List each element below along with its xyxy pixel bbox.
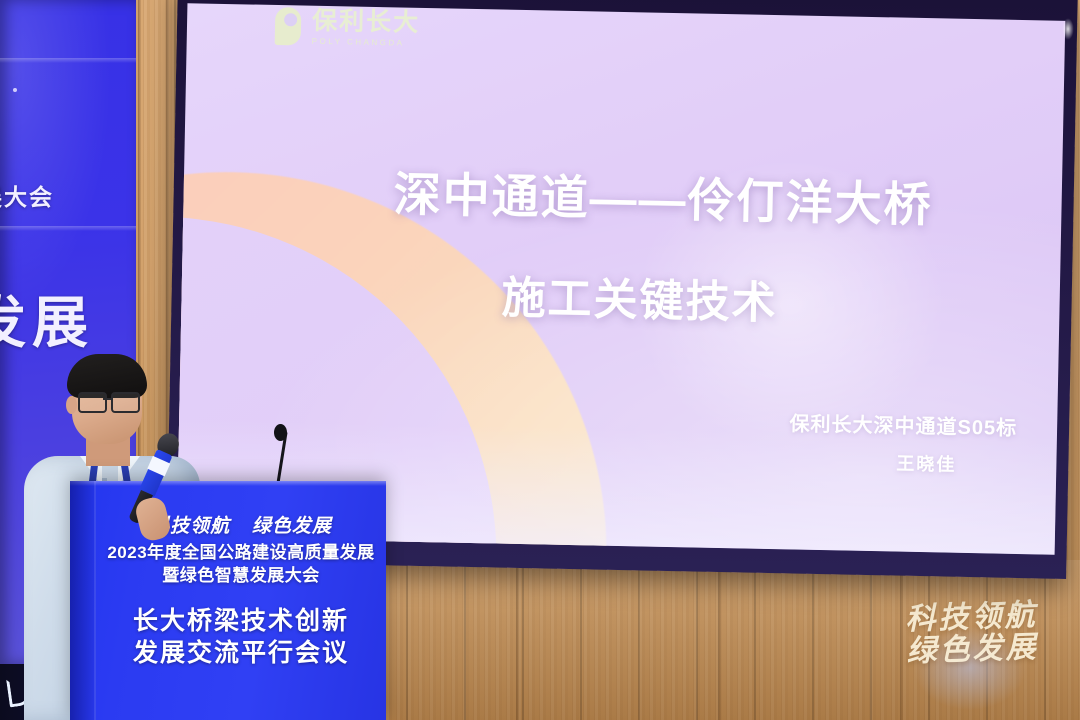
- backdrop-text-large: 发展: [0, 278, 94, 359]
- lens-right: [111, 392, 140, 413]
- podium-conference-line2: 暨绿色智慧发展大会: [96, 561, 386, 586]
- wall-calligraphy: 科技领航 绿色发展: [871, 599, 1073, 671]
- podium-calligraphy-right: 绿色发展: [252, 515, 332, 537]
- podium: 科技领航 绿色发展 2023年度全国公路建设高质量发展 暨绿色智慧发展大会 长大…: [70, 481, 386, 720]
- desk-microphone-head: [274, 424, 287, 441]
- podium-conference-line1: 2023年度全国公路建设高质量发展: [96, 538, 386, 563]
- slide-organization: 保利长大深中通道S05标: [789, 407, 1017, 441]
- speaker-ear: [66, 396, 77, 414]
- backdrop-highlight-dot: [13, 88, 17, 92]
- poly-changda-logo-icon: 保利长大 POLY CHANGDA: [275, 7, 421, 48]
- backdrop-text-small: 发展大会: [0, 178, 54, 212]
- logo-chinese-name: 保利长大: [312, 8, 420, 35]
- slide-subtitle: 施工关键技术: [501, 262, 778, 332]
- eyeglasses-icon: [78, 392, 144, 410]
- glasses-bridge: [103, 398, 111, 400]
- slide-presenter-name: 王晓佳: [896, 450, 957, 477]
- presentation-scene: 发展大会 发展 大数跨境 科技领航 绿色发展 保利长大 POLY CHA: [0, 0, 1080, 720]
- backdrop-fold: [0, 58, 136, 63]
- lens-left: [78, 392, 107, 413]
- podium-left-face: [70, 481, 96, 720]
- podium-session-line1: 长大桥梁技术创新: [96, 601, 386, 637]
- podium-session-line2: 发展交流平行会议: [96, 633, 386, 669]
- slide-title: 深中通道——伶仃洋大桥: [393, 155, 1034, 237]
- light-glare: [1060, 14, 1076, 44]
- backdrop-fold: [0, 226, 136, 231]
- logo-english-name: POLY CHANGDA: [312, 37, 420, 47]
- slide-surface: 保利长大 POLY CHANGDA 深中通道——伶仃洋大桥 施工关键技术 保利长…: [177, 3, 1066, 555]
- podium-top-edge: [70, 481, 386, 486]
- logo-mark-icon: [275, 7, 306, 46]
